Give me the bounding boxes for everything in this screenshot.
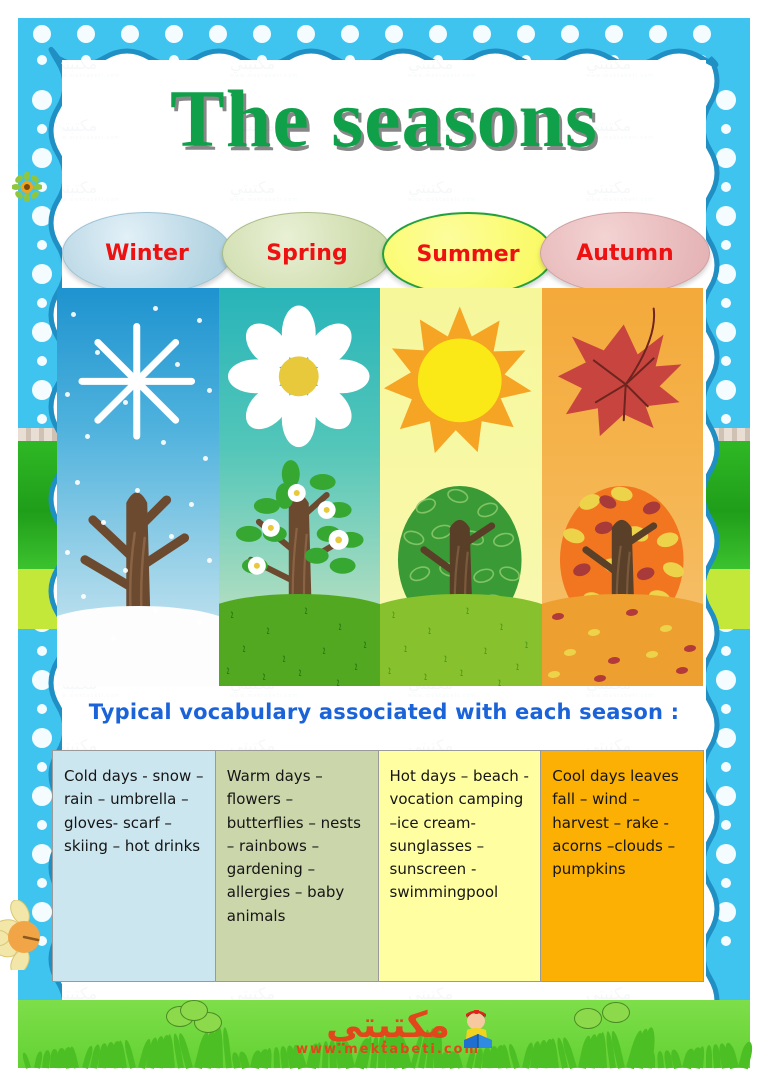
snow-dot [169, 534, 174, 539]
vocabulary-box-spring: Warm days – flowers – butterflies – nest… [215, 751, 378, 981]
grass-blade: ܐ [404, 642, 407, 656]
season-label-autumn[interactable]: Autumn [540, 212, 710, 294]
snow-dot [197, 318, 202, 323]
grass-blade: ܐ [466, 604, 469, 618]
grass-blade: ܐ [323, 644, 326, 658]
grass-blade: ܐ [267, 624, 270, 638]
snow-ground [57, 606, 219, 686]
snowflake-icon [82, 326, 192, 436]
snow-dot [65, 392, 70, 397]
season-label-summer[interactable]: Summer [382, 212, 554, 296]
snow-dot [71, 312, 76, 317]
season-label-winter[interactable]: Winter [62, 212, 232, 294]
clover-leaf [180, 1000, 208, 1021]
snow-dot [161, 440, 166, 445]
season-panel-autumn [542, 288, 704, 686]
grass-blade [657, 1051, 664, 1068]
grass-blade: ܐ [525, 638, 528, 652]
snow-dot [81, 594, 86, 599]
snow-dot [65, 550, 70, 555]
season-label-summer-text: Summer [416, 242, 519, 267]
season-label-autumn-text: Autumn [576, 241, 673, 266]
grass-blade: ܐ [500, 620, 503, 634]
grass-blade: ܐ [231, 608, 234, 622]
grass-blade: ܐ [498, 676, 501, 686]
daisy-flower-icon [227, 306, 369, 448]
grass-blade: ܐ [227, 664, 230, 678]
grass-blade: ܐ [364, 638, 367, 652]
grass-blade [650, 1052, 655, 1068]
maple-leaf-icon [557, 309, 681, 437]
vocabulary-table: Cold days - snow – rain – umbrella – glo… [52, 750, 704, 982]
season-illustration-panels: ܐܐܐܐܐܐܐܐܐܐܐܐܐ [57, 288, 703, 686]
grass-blade: ܐ [305, 604, 308, 618]
snow-dot [101, 520, 106, 525]
grass-blade: ܐ [337, 676, 340, 686]
sunflower-icon-top [12, 172, 42, 202]
grass-blade [706, 1045, 712, 1068]
grass-blade: ܐ [424, 670, 427, 684]
snow-dot [175, 362, 180, 367]
grass-blade: ܐ [283, 652, 286, 666]
grass-blade [21, 1052, 30, 1069]
grass-blade [738, 1041, 754, 1070]
snow-dot [153, 306, 158, 311]
snow-dot [111, 636, 116, 641]
grass-blade: ܐ [392, 608, 395, 622]
snow-dot [207, 388, 212, 393]
site-logo[interactable]: مكتبتي www.mektabeti.com [262, 1008, 514, 1072]
grass-blade: ܐ [355, 660, 358, 674]
grass-blade: ܐ [460, 666, 463, 680]
sunflower-icon-bottom [0, 900, 56, 970]
season-label-spring[interactable]: Spring [222, 212, 392, 294]
snow-dot [85, 434, 90, 439]
grass-blade: ܐ [516, 660, 519, 674]
grass-blade: ܐ [299, 666, 302, 680]
grass-blade: ܐ [339, 620, 342, 634]
vocabulary-box-autumn: Cool days leaves fall – wind – harvest –… [540, 751, 703, 981]
grass-blade: ܐ [388, 664, 391, 678]
snow-dot [207, 558, 212, 563]
snow-dot [197, 620, 202, 625]
snow-dot [135, 488, 140, 493]
grass-blade: ܐ [484, 644, 487, 658]
snow-dot [123, 400, 128, 405]
page-title: The seasons [0, 78, 768, 160]
season-panel-winter [57, 288, 219, 686]
clover-leaf [602, 1002, 630, 1023]
season-label-winter-text: Winter [105, 241, 189, 266]
vocabulary-heading: Typical vocabulary associated with each … [62, 700, 706, 724]
vocabulary-box-winter: Cold days - snow – rain – umbrella – glo… [53, 751, 215, 981]
grass-blade: ܐ [263, 670, 266, 684]
grass-blade: ܐ [444, 652, 447, 666]
grass-blade: ܐ [243, 642, 246, 656]
snow-dot [95, 350, 100, 355]
sun-icon [384, 307, 532, 454]
snow-dot [189, 502, 194, 507]
snow-dot [153, 608, 158, 613]
grass-blade [222, 1027, 232, 1068]
snow-dot [75, 480, 80, 485]
clover-leaf [574, 1008, 602, 1029]
season-label-spring-text: Spring [266, 241, 347, 266]
season-panel-summer: ܐܐܐܐܐܐܐܐܐܐܐܐܐ [380, 288, 542, 686]
season-panel-spring: ܐܐܐܐܐܐܐܐܐܐܐܐܐ [219, 288, 381, 686]
poster-root: مكتبتيwww.mektabeti.comمكتبتيwww.mektabe… [0, 0, 768, 1086]
snow-dot [203, 456, 208, 461]
boy-reading-book-icon [456, 1010, 500, 1050]
snow-dot [123, 568, 128, 573]
grass-blade: ܐ [428, 624, 431, 638]
vocabulary-box-summer: Hot days – beach - vocation camping –ice… [378, 751, 541, 981]
